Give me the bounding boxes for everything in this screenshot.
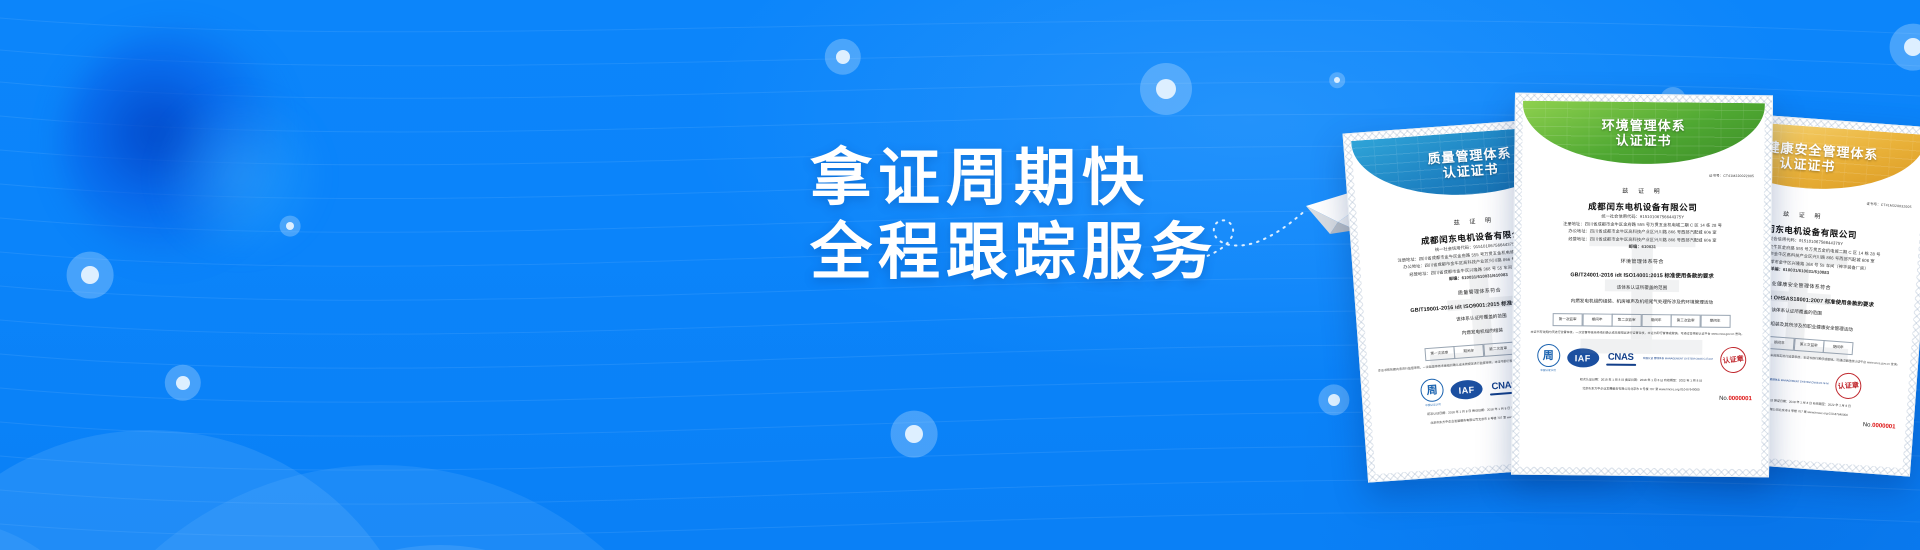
certificate-header-environment: 环境管理体系 认证证书 (1522, 101, 1765, 166)
certificate-card-environment[interactable]: 环境管理体系 认证证书 证书号：CT41M220022005 兹 证 明 成都闰… (1511, 93, 1773, 478)
certificate-serial-number: 0000001 (1728, 396, 1751, 402)
decor-dot-6 (176, 376, 190, 390)
red-official-stamp: 认证章 (1835, 372, 1863, 400)
decor-dot-1 (1156, 79, 1176, 99)
certificate-standard: GB/T24001-2016 idt ISO14001:2015 标准使用条款的… (1531, 270, 1753, 280)
audit-cell: 第三次监审 (1793, 338, 1824, 353)
certificate-audit-table: 第一次监审期间年第二次监审期间年第三次监审期间年 (1531, 313, 1753, 328)
decor-dot-5 (81, 266, 99, 284)
decor-dot-9 (1334, 77, 1340, 83)
certificate-serial-number: 0000001 (1872, 423, 1896, 431)
audit-cell: 期间年 (1453, 344, 1484, 359)
hero-banner: 拿证周期快 全程跟踪服务 质量管理体系 认证证书 (0, 0, 1920, 550)
certificate-activity: 内燃发电机组的组装、机房噪声及机组尾气处理所涉及的环境管理活动 (1531, 298, 1753, 306)
audit-cell: 第三次监审 (1671, 314, 1701, 327)
decor-dot-2 (1904, 38, 1920, 56)
ccaa-caption: 中国认证认可 (1425, 402, 1441, 407)
header-texture (1522, 101, 1765, 166)
certificate-group: 质量管理体系 认证证书 证书号：CT41M120012005 兹 证 明 成都闰… (1355, 78, 1920, 478)
background-circle-small (230, 545, 650, 550)
background-circle-large (0, 430, 430, 550)
certificate-serial: No.0000001 (1530, 394, 1752, 402)
certificate-number: 证书号：CT41M220022005 (1532, 171, 1754, 178)
ccaa-caption: 中国认证认可 (1540, 368, 1556, 372)
red-official-stamp: 认证章 (1718, 345, 1747, 374)
cnas-logo: CNAS (1606, 351, 1636, 365)
certificate-scope-label: 该体系认证所覆盖的范围 (1531, 284, 1753, 292)
background-glow-blob-secondary (150, 95, 330, 255)
certificate-postcode: 邮编：610031 (1531, 242, 1753, 252)
iaf-oval-logo: IAF (1450, 379, 1483, 400)
headline-line-1: 拿证周期快 (810, 142, 1150, 216)
certificate-system-label: 环境管理体系符合 (1531, 257, 1753, 266)
certificate-serial-prefix: No. (1719, 396, 1728, 402)
certificate-foot-line2: 北京市东方中企业发展服务有限公司北京市 8 号楼 707 室 www.hncec… (1530, 386, 1752, 393)
ccaa-glyph: 周 (1420, 378, 1445, 403)
audit-cell: 第二次监审 (1612, 314, 1642, 327)
certificate-fine-print: 本证书有效期内须进行监督审核，一次监督审核未经组织确认或未按规定进行监督审核，本… (1530, 330, 1752, 337)
certificate-logo-row: 周 中国认证认可 IAF CNAS 中国认证 管理体系 MANAGEMENT S… (1530, 343, 1752, 373)
iaf-oval-logo: IAF (1567, 348, 1599, 367)
audit-cell: 期间年 (1641, 314, 1671, 327)
audit-cell: 期间年 (1582, 313, 1612, 326)
audit-cell: 期间年 (1700, 315, 1730, 328)
audit-cell: 期间年 (1823, 340, 1854, 355)
decor-dot-8 (1328, 394, 1340, 406)
ms-caption: 中国认证 管理体系 MANAGEMENT SYSTEM CNAS C174-M (1643, 357, 1713, 361)
certificate-serial-prefix: No. (1863, 422, 1873, 429)
certificate-attest-label: 兹 证 明 (1532, 185, 1754, 196)
audit-cell: 第一次监审 (1553, 313, 1583, 326)
decor-dot-0 (836, 50, 850, 64)
cnas-underline (1606, 363, 1636, 365)
audit-cell: 第一次监审 (1424, 346, 1455, 361)
decor-dot-7 (905, 425, 923, 443)
ccaa-round-seal: 周 中国认证认可 (1537, 343, 1560, 371)
background-circle-medium (40, 465, 720, 550)
cnas-wordmark: CNAS (1608, 351, 1634, 362)
audit-cell: 第二次监审 (1483, 342, 1514, 357)
ccaa-glyph: 周 (1537, 343, 1560, 366)
certificate-foot-line1: 初次认证日期：2018 年 1 月 8 日 换证日期：2018 年 1 月 8 … (1530, 376, 1752, 383)
ccaa-round-seal: 周 中国认证认可 (1420, 378, 1445, 408)
background-circle-corner (0, 520, 110, 550)
